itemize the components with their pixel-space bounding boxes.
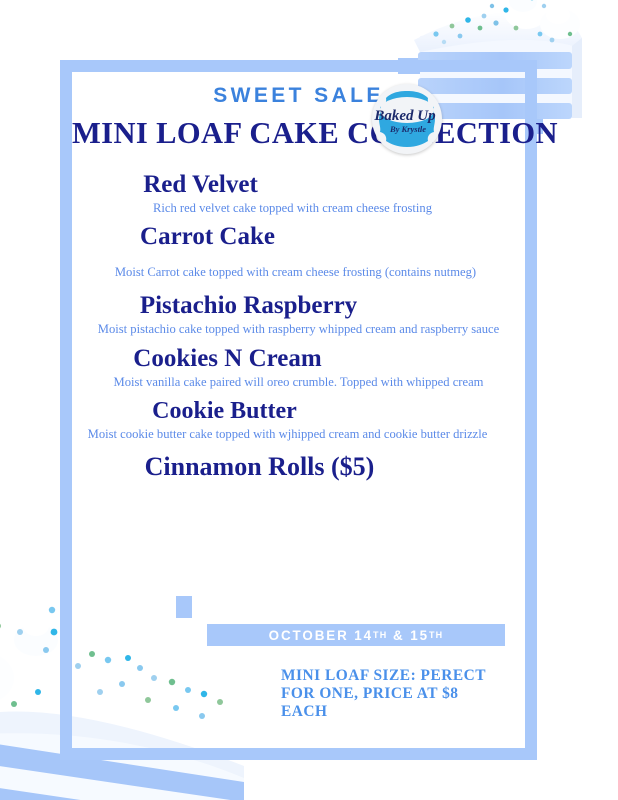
brand-logo-icon: Baked Up By Krystle — [372, 84, 442, 154]
menu-item-red-velvet: Red Velvet Rich red velvet cake topped w… — [72, 171, 525, 216]
menu-item-description: Moist Carrot cake topped with cream chee… — [66, 264, 525, 280]
menu-item-pistachio-raspberry: Pistachio Raspberry Moist pistachio cake… — [72, 292, 525, 337]
date-banner: OCTOBER 14TH & 15TH — [207, 624, 505, 646]
menu-item-name: Cinnamon Rolls ($5) — [0, 452, 525, 481]
brand-logo-line2: By Krystle — [389, 124, 426, 134]
menu-item-name: Carrot Cake — [0, 223, 525, 251]
menu-item-description: Moist pistachio cake topped with raspber… — [72, 321, 525, 337]
menu-item-name: Cookie Butter — [0, 398, 525, 425]
page-title: MINI LOAF CAKE COLLECTION — [72, 116, 525, 151]
date-banner-day1: 14 — [354, 628, 373, 643]
menu-item-name: Red Velvet — [0, 171, 525, 199]
menu-list: Red Velvet Rich red velvet cake topped w… — [72, 171, 525, 482]
date-banner-day2-suffix: TH — [429, 630, 443, 640]
flyer-canvas: SWEET SALE MINI LOAF CAKE COLLECTION Red… — [0, 0, 618, 800]
pricing-note: MINI LOAF SIZE: PERECT FOR ONE, PRICE AT… — [281, 667, 509, 722]
eyebrow-title: SWEET SALE — [72, 84, 525, 108]
date-banner-separator: & — [393, 628, 405, 643]
menu-item-description: Moist vanilla cake paired will oreo crum… — [72, 374, 525, 390]
date-banner-day1-suffix: TH — [373, 630, 387, 640]
menu-item-cinnamon-rolls: Cinnamon Rolls ($5) — [72, 452, 525, 481]
menu-item-cookies-n-cream: Cookies N Cream Moist vanilla cake paire… — [72, 345, 525, 390]
flyer-content: SWEET SALE MINI LOAF CAKE COLLECTION Red… — [72, 72, 525, 748]
brand-logo: Baked Up By Krystle — [372, 84, 442, 154]
menu-item-carrot-cake: Carrot Cake Moist Carrot cake topped wit… — [72, 223, 525, 280]
menu-item-name: Cookies N Cream — [0, 345, 525, 373]
date-banner-day2: 15 — [410, 628, 429, 643]
menu-item-cookie-butter: Cookie Butter Moist cookie butter cake t… — [72, 398, 525, 442]
date-banner-month: OCTOBER — [269, 628, 349, 643]
menu-item-description: Rich red velvet cake topped with cream c… — [60, 200, 525, 216]
menu-item-description: Moist cookie butter cake topped with wjh… — [50, 426, 525, 442]
brand-logo-line1: Baked Up — [373, 108, 436, 124]
menu-item-name: Pistachio Raspberry — [0, 292, 525, 320]
